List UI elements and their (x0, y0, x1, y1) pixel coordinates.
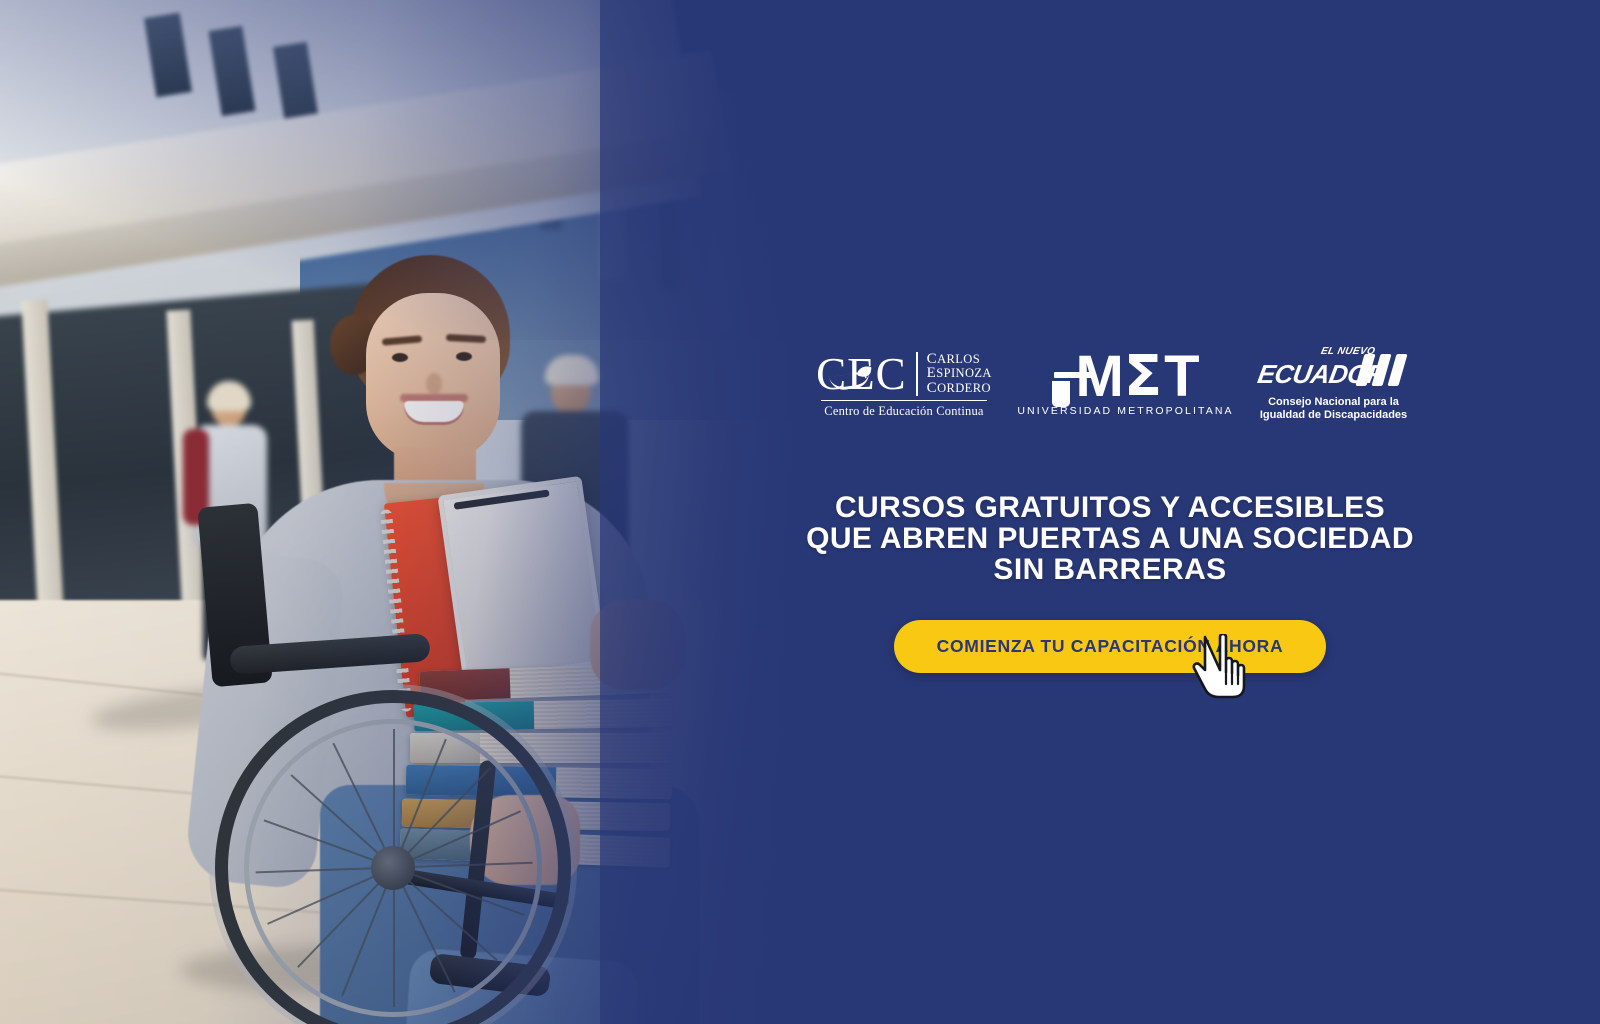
cec-divider (916, 352, 918, 396)
umet-letter-sigma: Σ (1124, 354, 1162, 399)
umet-letter-u (1052, 381, 1070, 407)
logo-ecuador: EL NUEVO ECUADOR Consejo Nacional para l… (1251, 348, 1416, 423)
hero-banner: CEC CARLOS ESPINOZA CORDERO Centro de Ed… (0, 0, 1600, 1024)
partner-logo-row: CEC CARLOS ESPINOZA CORDERO Centro de Ed… (620, 340, 1600, 430)
headline-line: SIN BARRERAS (620, 554, 1600, 585)
logo-umet: M Σ T UNIVERSIDAD METROPOLITANA (1038, 354, 1213, 417)
cec-name-line: CARLOS (927, 352, 992, 367)
ecuador-subtitle: Consejo Nacional para la Igualdad de Dis… (1260, 396, 1407, 423)
cec-full-name: CARLOS ESPINOZA CORDERO (927, 352, 992, 396)
umet-letter-t: T (1164, 354, 1198, 399)
macron-icon (1054, 372, 1093, 378)
page-title: CURSOS GRATUITOS Y ACCESIBLES QUE ABREN … (620, 492, 1600, 585)
headline-line: CURSOS GRATUITOS Y ACCESIBLES (620, 492, 1600, 523)
content-panel: CEC CARLOS ESPINOZA CORDERO Centro de Ed… (620, 0, 1600, 1024)
umet-wordmark: M Σ T (1052, 354, 1198, 399)
cec-name-line: ESPINOZA (927, 366, 992, 381)
three-slanted-bars-icon (1360, 354, 1414, 386)
start-training-button[interactable]: COMIENZA TU CAPACITACIÓN AHORA (894, 620, 1327, 673)
cec-rule (821, 400, 987, 401)
cec-name-line: CORDERO (927, 381, 992, 396)
headline-line: QUE ABREN PUERTAS A UNA SOCIEDAD (620, 523, 1600, 554)
cta-container: COMIENZA TU CAPACITACIÓN AHORA (620, 620, 1600, 673)
logo-cec: CEC CARLOS ESPINOZA CORDERO Centro de Ed… (804, 352, 1004, 419)
ecuador-subtitle-line: Igualdad de Discapacidades (1260, 409, 1407, 423)
cec-subtitle: Centro de Educación Continua (824, 404, 983, 419)
ecuador-subtitle-line: Consejo Nacional para la (1260, 396, 1407, 410)
